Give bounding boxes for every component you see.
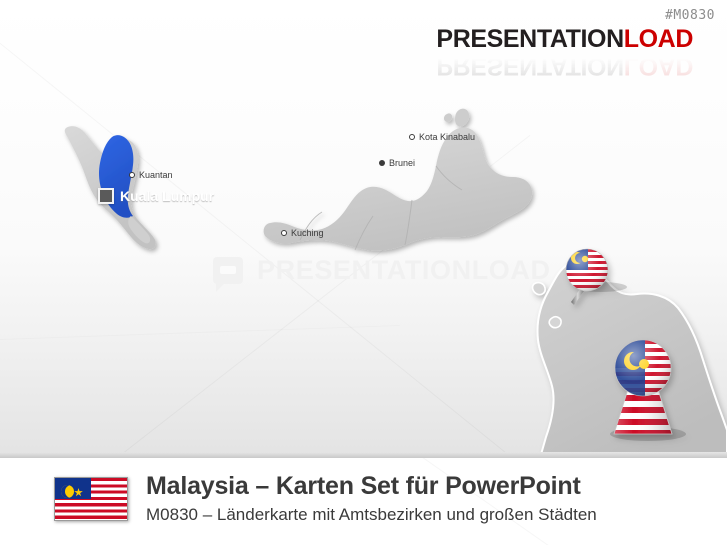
city-label-kota-kinabalu: Kota Kinabalu bbox=[409, 132, 475, 142]
city-marker-circle-icon bbox=[409, 134, 415, 140]
city-name: Brunei bbox=[389, 158, 415, 168]
city-marker-circle-icon bbox=[281, 230, 287, 236]
capital-marker-square-icon bbox=[98, 188, 114, 204]
page-title: Malaysia – Karten Set für PowerPoint bbox=[146, 472, 597, 501]
city-label-brunei: Brunei bbox=[379, 158, 415, 168]
footer: Malaysia – Karten Set für PowerPoint M08… bbox=[0, 458, 727, 545]
city-name: Kota Kinabalu bbox=[419, 132, 475, 142]
slide-stage: #M0830 PRESENTATIONLOAD PRESENTATIONLOAD… bbox=[0, 0, 727, 458]
footer-titles: Malaysia – Karten Set für PowerPoint M08… bbox=[146, 472, 597, 526]
malaysia-flag-icon bbox=[54, 477, 128, 521]
city-label-kuching: Kuching bbox=[281, 228, 324, 238]
flag-crescent-icon bbox=[61, 485, 74, 498]
page-subtitle: M0830 – Länderkarte mit Amtsbezirken und… bbox=[146, 504, 597, 526]
city-name: Kuching bbox=[291, 228, 324, 238]
city-label-kuantan: Kuantan bbox=[129, 170, 173, 180]
city-marker-dot-icon bbox=[379, 160, 385, 166]
city-label-kuala-lumpur: Kuala Lumpur bbox=[98, 188, 214, 204]
city-name: Kuala Lumpur bbox=[120, 188, 214, 204]
malaysia-map-graphic bbox=[0, 0, 727, 458]
city-marker-circle-icon bbox=[129, 172, 135, 178]
city-name: Kuantan bbox=[139, 170, 173, 180]
slide-canvas: #M0830 PRESENTATIONLOAD PRESENTATIONLOAD… bbox=[0, 0, 727, 545]
